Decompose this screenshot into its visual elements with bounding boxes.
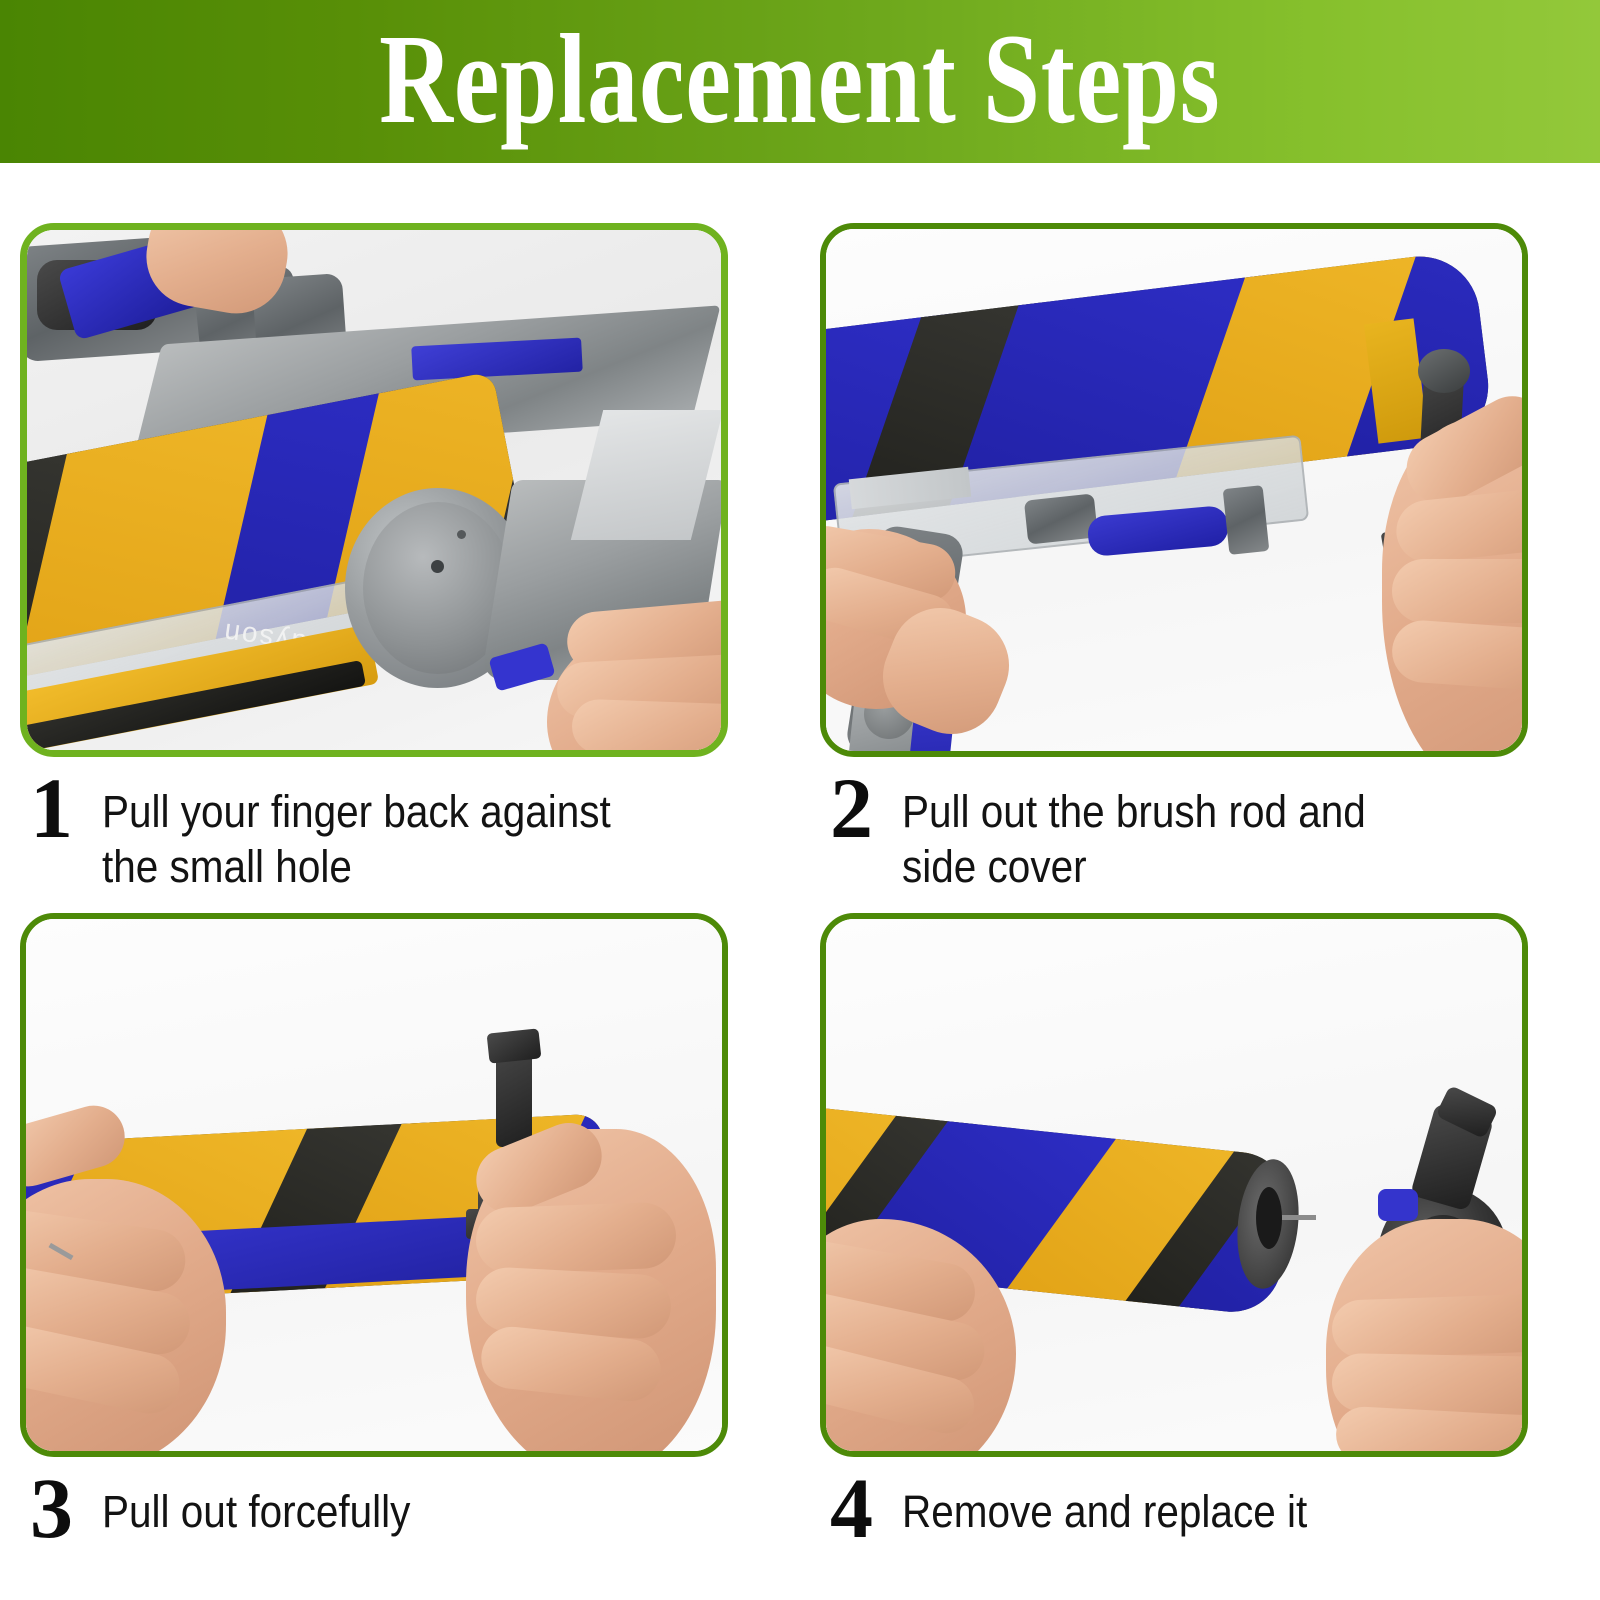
step-caption-text-4: Remove and replace it (902, 1473, 1307, 1540)
step-caption-4: 4 Remove and replace it (820, 1473, 1580, 1544)
step-photo-frame-1: dyson (20, 223, 728, 757)
step-caption-3: 3 Pull out forcefully (20, 1473, 780, 1544)
step-caption-text-1: Pull your finger back against the small … (102, 773, 611, 895)
step-card-3: 3 Pull out forcefully (20, 913, 780, 1544)
page-title: Replacement Steps (379, 15, 1220, 143)
step-caption-2: 2 Pull out the brush rod and side cover (820, 773, 1580, 895)
step-card-1: dyson (20, 223, 780, 895)
step-number-3: 3 (30, 1473, 102, 1544)
steps-grid: dyson (0, 163, 1600, 1600)
step-caption-text-3: Pull out forcefully (102, 1473, 410, 1540)
header-banner: Replacement Steps (0, 0, 1600, 163)
step-caption-1: 1 Pull your finger back against the smal… (20, 773, 780, 895)
replacement-steps-infographic: Replacement Steps (0, 0, 1600, 1600)
step-photo-frame-4 (820, 913, 1528, 1457)
step-photo-2 (826, 229, 1522, 751)
step-photo-4 (826, 919, 1522, 1451)
step-card-4: 4 Remove and replace it (820, 913, 1580, 1544)
step-number-4: 4 (830, 1473, 902, 1544)
step-photo-frame-2 (820, 223, 1528, 757)
step-photo-1: dyson (27, 230, 721, 750)
step-number-2: 2 (830, 773, 902, 844)
step-card-2: 2 Pull out the brush rod and side cover (820, 223, 1580, 895)
step-caption-text-2: Pull out the brush rod and side cover (902, 773, 1366, 895)
step-number-1: 1 (30, 773, 102, 844)
step-photo-3 (26, 919, 722, 1451)
step-photo-frame-3 (20, 913, 728, 1457)
